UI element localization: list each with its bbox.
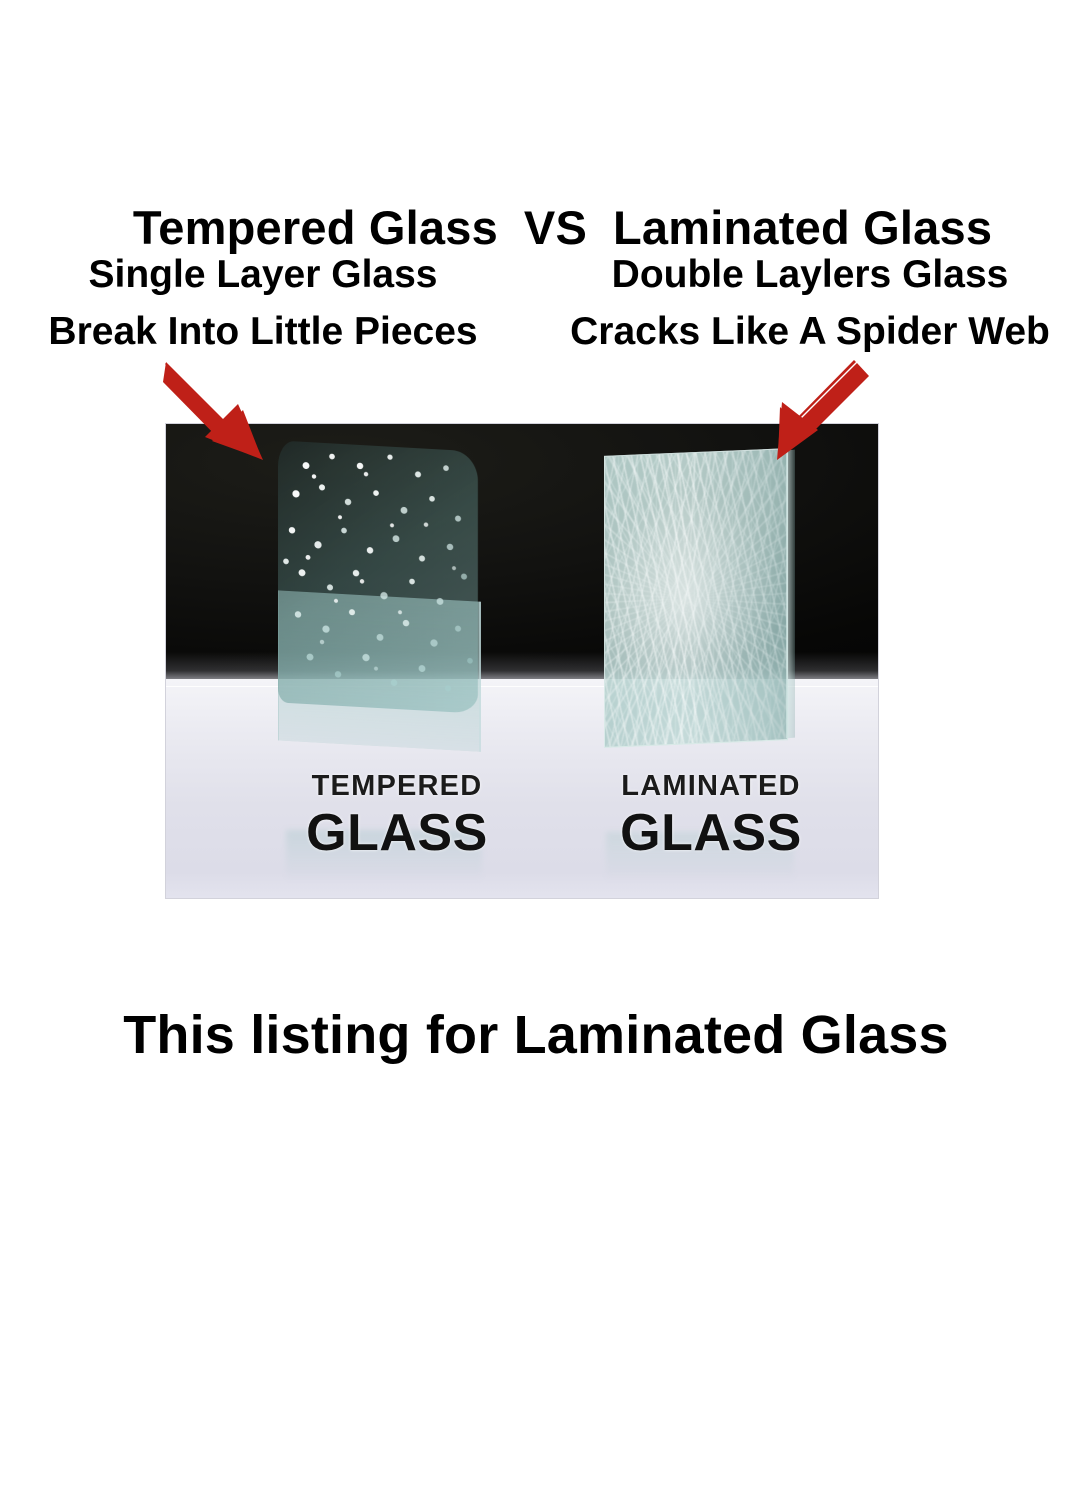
laminated-pane-tint	[605, 449, 787, 747]
laminated-description: Double Laylers Glass Cracks Like A Spide…	[548, 246, 1072, 360]
tempered-description-line-2: Break Into Little Pieces	[8, 303, 518, 360]
laminated-description-line-2: Cracks Like A Spider Web	[548, 303, 1072, 360]
tempered-photo-caption: TEMPERED GLASS	[252, 772, 542, 859]
laminated-caption-big: GLASS	[566, 807, 856, 859]
laminated-description-line-1: Double Laylers Glass	[548, 246, 1072, 303]
tempered-shatter-fragments	[278, 440, 478, 713]
laminated-caption-small: LAMINATED	[566, 772, 856, 801]
poster-canvas: Tempered GlassVSLaminated Glass Single L…	[0, 0, 1072, 1500]
listing-note: This listing for Laminated Glass	[0, 1004, 1072, 1066]
tempered-glass-panel	[278, 440, 478, 751]
comparison-photo: TEMPERED GLASS LAMINATED GLASS	[166, 424, 878, 898]
laminated-pane-body	[604, 448, 788, 748]
laminated-glass-panel	[604, 448, 788, 748]
tempered-caption-big: GLASS	[252, 807, 542, 859]
tempered-caption-small: TEMPERED	[252, 772, 542, 801]
laminated-pane-edge	[786, 450, 795, 739]
laminated-photo-caption: LAMINATED GLASS	[566, 772, 856, 859]
tempered-description-line-1: Single Layer Glass	[8, 246, 518, 303]
comparison-descriptions: Single Layer Glass Break Into Little Pie…	[0, 246, 1072, 366]
tempered-description: Single Layer Glass Break Into Little Pie…	[8, 246, 518, 360]
